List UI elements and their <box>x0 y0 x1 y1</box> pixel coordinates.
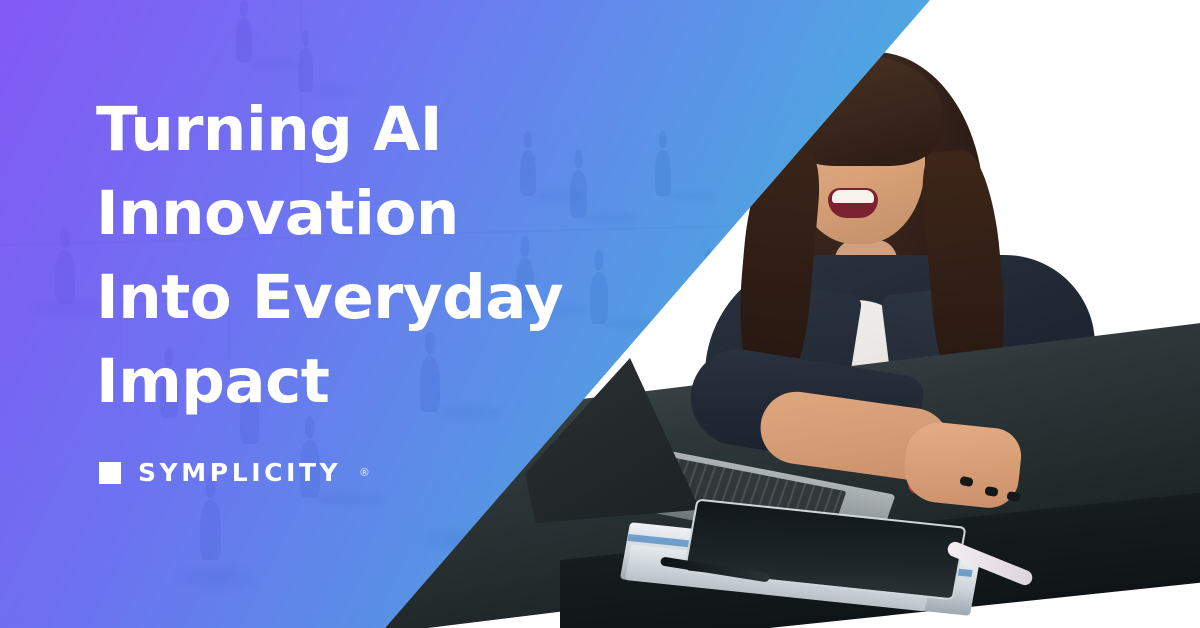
headline-line-3: Into Everyday <box>96 256 656 340</box>
square-mark-icon <box>99 462 121 484</box>
symplicity-logo[interactable]: SYMPLICITY ® <box>99 458 368 487</box>
teeth <box>832 190 874 203</box>
logo-wordmark: SYMPLICITY <box>138 458 341 487</box>
headline-line-4: Impact <box>96 340 656 424</box>
headline-line-1: Turning AI <box>96 88 656 172</box>
headline-line-2: Innovation <box>96 172 656 256</box>
registered-trademark-icon: ® <box>360 467 368 479</box>
hand <box>901 419 1024 511</box>
marketing-banner: Turning AI Innovation Into Everyday Impa… <box>0 0 1200 628</box>
page-title: Turning AI Innovation Into Everyday Impa… <box>96 88 656 424</box>
fingernail <box>1006 491 1020 502</box>
